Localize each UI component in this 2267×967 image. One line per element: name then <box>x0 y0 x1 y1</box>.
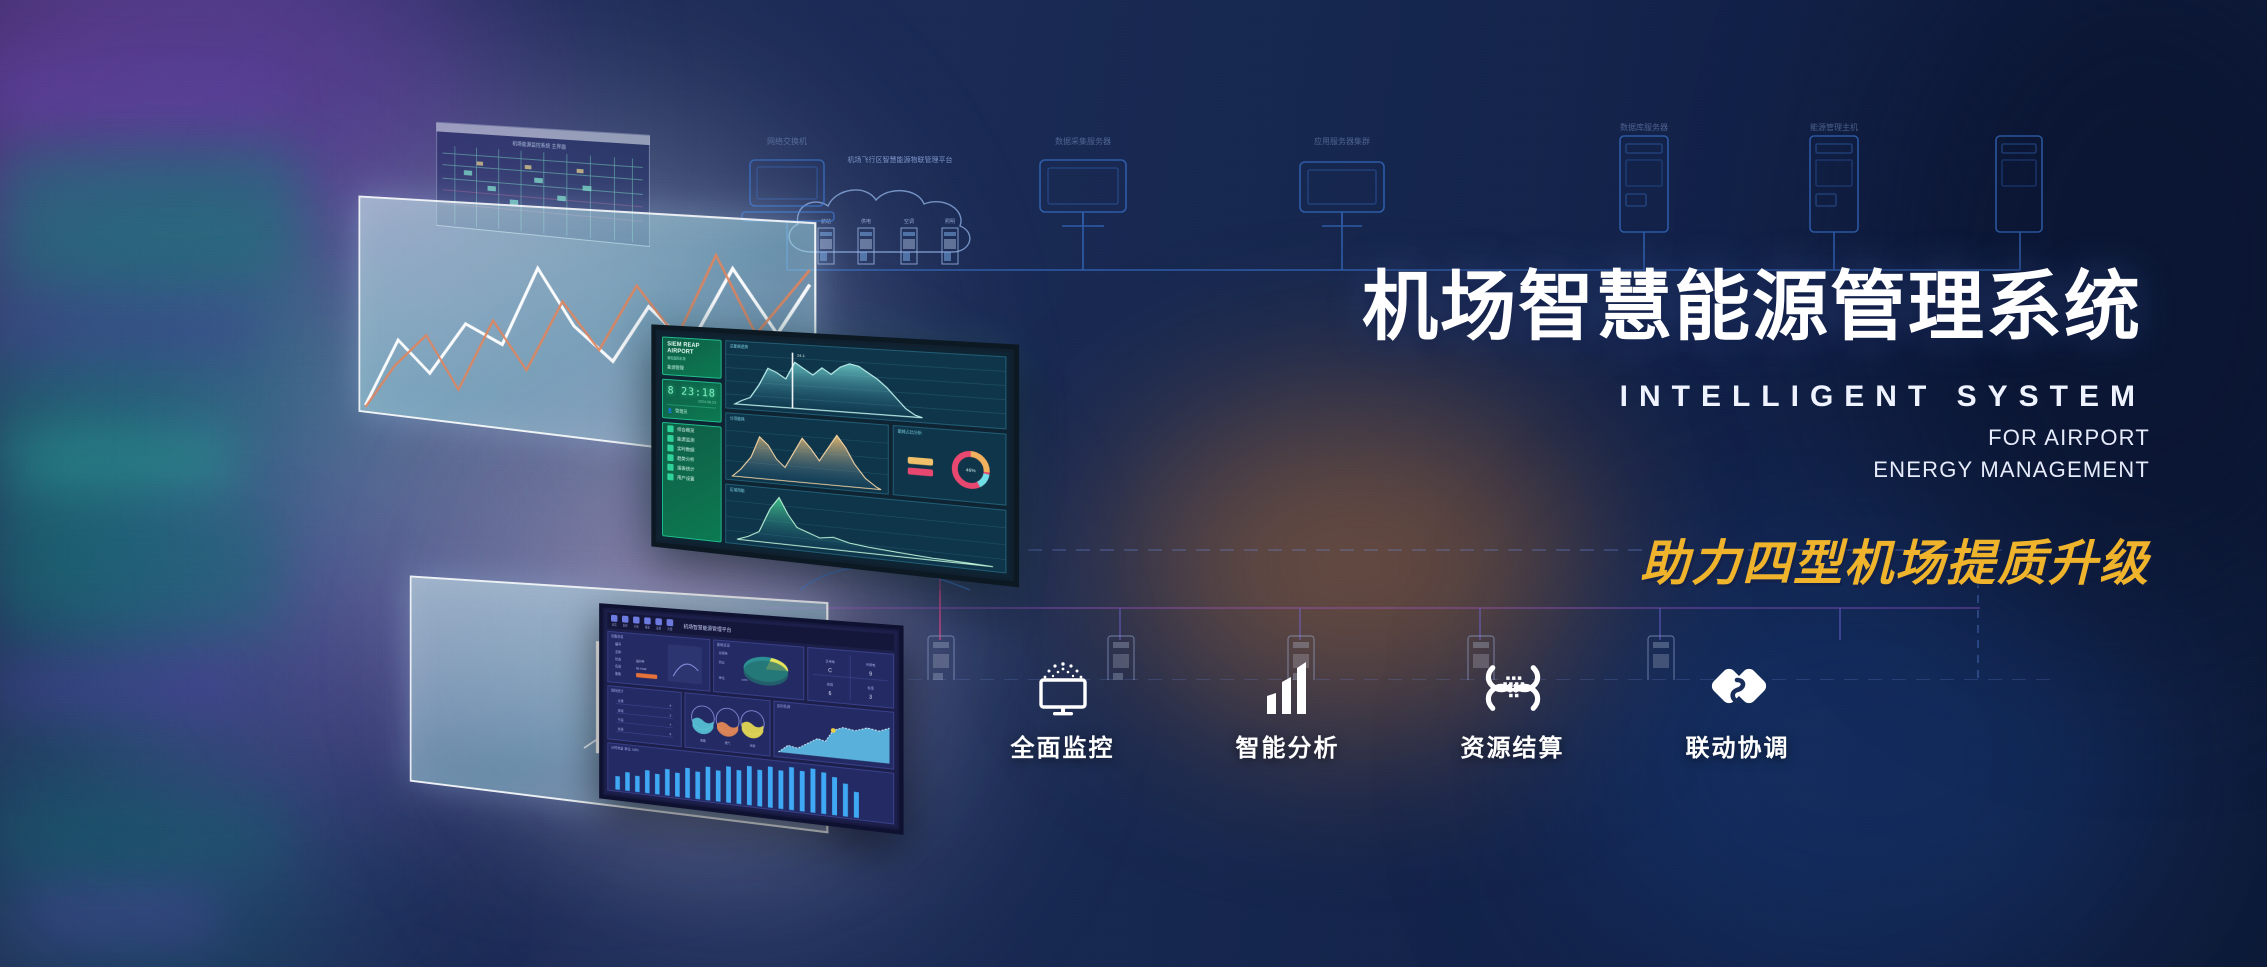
toolbar-item-alarm[interactable]: 告警 <box>667 619 674 631</box>
panel-sub-energy[interactable]: 分项能耗 <box>725 412 888 495</box>
airport-module-label: 能源管理 <box>667 365 716 374</box>
analysis-icon <box>633 616 639 623</box>
promo-banner: 机场飞行区智慧能源物联管理平台 航站 供电 空 <box>0 0 2267 967</box>
feature-item-analysis[interactable]: 智能分析 <box>1175 660 1400 763</box>
monitor-icon <box>622 616 628 623</box>
svg-text:状态: 状态 <box>615 656 621 662</box>
home-icon <box>611 615 617 622</box>
report-icon <box>644 617 651 624</box>
lower-dashboard-title: 机场智慧能源管理平台 <box>684 623 732 634</box>
grid-icon <box>667 435 673 442</box>
headline-block: 机场智慧能源管理系统 INTELLIGENT SYSTEM FOR AIRPOR… <box>1150 270 2150 595</box>
svg-text:数据库服务器: 数据库服务器 <box>1620 122 1668 132</box>
user-name: 管理员 <box>675 408 687 415</box>
svg-text:2: 2 <box>669 713 671 717</box>
toolbar-item-settings[interactable]: 设置 <box>655 618 662 630</box>
nav-label: 报表统计 <box>677 464 694 472</box>
nav-item-monitor[interactable]: 能源监测 <box>667 435 716 446</box>
svg-text:9: 9 <box>869 671 872 678</box>
svg-text:C: C <box>828 668 832 675</box>
nav-item-settings[interactable]: 用户设置 <box>667 473 716 484</box>
svg-text:燃气: 燃气 <box>725 741 731 746</box>
bar-chart-icon <box>1261 660 1315 716</box>
card-device-info[interactable]: 设备信息 编号名称 状态负荷能耗 运行中68.4 kW <box>607 631 710 692</box>
svg-text:谷段: 谷段 <box>618 726 624 732</box>
card-energy-overview[interactable]: 能耗总览 总能耗同比 单位kWh <box>713 639 804 700</box>
svg-text:46%: 46% <box>966 467 976 473</box>
svg-text:3: 3 <box>869 694 872 701</box>
svg-text:总量: 总量 <box>618 698 624 704</box>
svg-text:机场能源监控系统 主界面: 机场能源监控系统 主界面 <box>512 140 566 151</box>
svg-text:4: 4 <box>669 704 671 708</box>
nav-item-overview[interactable]: 综合概览 <box>667 425 716 436</box>
card-gauges[interactable]: 电能 燃气 水耗 <box>685 692 770 756</box>
card-indicator-list[interactable]: 指标统计 总量峰段平段谷段 4275 <box>607 685 682 747</box>
panel-title: 总能耗趋势 <box>730 343 749 350</box>
feature-label: 智能分析 <box>1236 728 1340 763</box>
card-icon <box>667 444 673 451</box>
dashboard-sidebar[interactable]: SIEM REAP AIRPORT 暹粒国际机场 能源管理 8 23:18 20… <box>662 336 722 542</box>
svg-text:负荷: 负荷 <box>615 663 621 669</box>
svg-text:谷值: 谷值 <box>868 685 874 691</box>
svg-text:网络交换机: 网络交换机 <box>767 136 807 146</box>
svg-text:能耗: 能耗 <box>615 671 621 677</box>
svg-text:平段: 平段 <box>618 716 624 722</box>
toolbar-item-analysis[interactable]: 分析 <box>633 616 639 628</box>
toolbar-item-monitor[interactable]: 监控 <box>622 616 628 628</box>
svg-text:7: 7 <box>669 723 671 727</box>
bell-icon <box>667 619 674 626</box>
nav-label: 用户设置 <box>677 474 694 482</box>
svg-text:24.1: 24.1 <box>797 354 805 358</box>
user-avatar-icon: 👤 <box>667 408 672 414</box>
tagline: 助力四型机场提质升级 <box>1150 524 2150 595</box>
svg-text:5: 5 <box>669 732 671 736</box>
panel-title: 分项能耗 <box>730 415 745 422</box>
feature-list: 全面监控 智能分析 <box>950 660 1850 763</box>
svg-text:水耗: 水耗 <box>750 743 756 748</box>
svg-text:6: 6 <box>829 691 832 698</box>
svg-text:单位: 单位 <box>719 674 725 680</box>
card-realtime-load[interactable]: 实时负荷 <box>773 701 894 770</box>
current-user[interactable]: 👤 管理员 <box>667 404 716 417</box>
panel-energy-share[interactable]: 能耗占比分析 46% <box>893 425 1007 506</box>
four-petal-knot-icon <box>1484 660 1542 716</box>
interlocking-link-icon <box>1708 660 1768 716</box>
feature-label: 资源结算 <box>1461 728 1565 763</box>
svg-text:能源管理主机: 能源管理主机 <box>1810 122 1858 132</box>
clock-card: 8 23:18 2024.08.23 👤 管理员 <box>662 379 722 423</box>
svg-text:峰值: 峰值 <box>827 681 833 687</box>
nav-label: 趋势分析 <box>677 455 694 463</box>
lower-analytics-dashboard[interactable]: 首页 监控 分析 报表 设置 告警 机场智慧能源管理平台 设备信息 编号名称 状… <box>599 603 903 835</box>
svg-text:68.4 kW: 68.4 kW <box>636 666 647 671</box>
svg-text:应用服务器集群: 应用服务器集群 <box>1314 136 1370 146</box>
svg-text:运行中: 运行中 <box>636 658 644 664</box>
svg-text:同比: 同比 <box>719 659 725 665</box>
gear-icon <box>655 618 662 625</box>
nav-label: 综合概览 <box>677 426 694 434</box>
subtitle-en: INTELLIGENT SYSTEM <box>1150 380 2150 414</box>
subtitle-en-line2: FOR AIRPORT <box>1150 423 2150 453</box>
chart-icon <box>667 454 673 461</box>
nav-label: 能源监测 <box>677 436 694 444</box>
center-energy-dashboard[interactable]: SIEM REAP AIRPORT 暹粒国际机场 能源管理 8 23:18 20… <box>651 324 1019 587</box>
page-title: 机场智慧能源管理系统 <box>1150 270 2150 346</box>
nav-label: 实时数据 <box>677 445 694 453</box>
svg-text:日用电: 日用电 <box>825 658 834 664</box>
svg-text:月用电: 月用电 <box>866 661 875 667</box>
monitor-signal-icon <box>1032 660 1094 716</box>
svg-text:数据采集服务器: 数据采集服务器 <box>1055 136 1111 146</box>
svg-text:电能: 电能 <box>700 738 706 743</box>
svg-text:总能耗: 总能耗 <box>719 650 728 656</box>
svg-text:名称: 名称 <box>615 649 621 654</box>
dashboard-nav-menu[interactable]: 综合概览 能源监测 实时数据 趋势分析 报表统计 用户设置 <box>662 422 722 543</box>
report-icon <box>667 464 673 471</box>
svg-text:峰段: 峰段 <box>618 707 624 713</box>
feature-label: 全面监控 <box>1011 728 1115 763</box>
toolbar-item-report[interactable]: 报表 <box>644 617 651 629</box>
feature-item-coordination[interactable]: 联动协调 <box>1625 660 1850 763</box>
feature-item-settlement[interactable]: 资源结算 <box>1400 660 1625 763</box>
home-icon <box>667 425 673 432</box>
toolbar-item-home[interactable]: 首页 <box>611 615 617 627</box>
feature-item-monitoring[interactable]: 全面监控 <box>950 660 1175 763</box>
svg-text:kWh: kWh <box>742 677 748 682</box>
subtitle-en-line3: ENERGY MANAGEMENT <box>1150 455 2150 485</box>
gear-icon <box>667 473 673 480</box>
feature-label: 联动协调 <box>1686 728 1790 763</box>
airport-identity-card: SIEM REAP AIRPORT 暹粒国际机场 能源管理 <box>662 336 722 378</box>
svg-text:编号: 编号 <box>615 641 621 646</box>
card-kpi-grid[interactable]: 日用电月用电 峰值谷值 C9 63 <box>807 647 894 709</box>
